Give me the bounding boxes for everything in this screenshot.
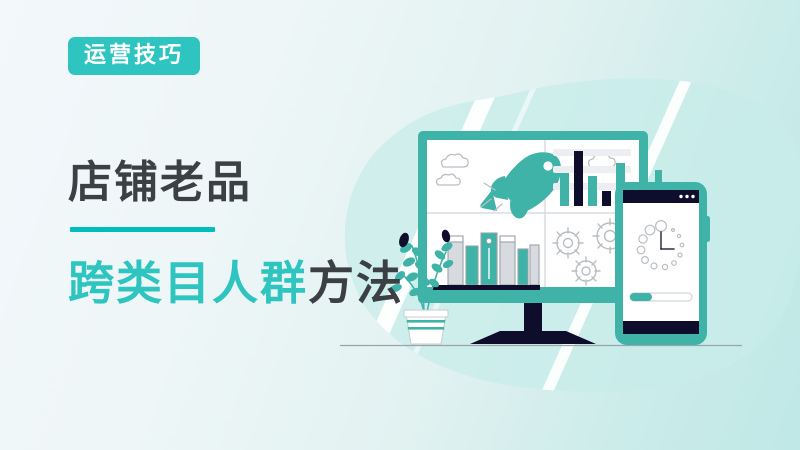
chart-bar <box>560 173 569 206</box>
bookshelf <box>432 285 540 290</box>
book-item <box>530 245 539 285</box>
phone-side-button <box>705 216 710 242</box>
category-badge[interactable]: 运营技巧 <box>68 37 200 75</box>
book-item <box>500 240 515 285</box>
title-divider <box>70 227 215 232</box>
book-item <box>518 249 528 285</box>
desktop-monitor <box>418 131 648 344</box>
phone-bottom-bar <box>623 321 699 334</box>
progress-fill <box>630 293 652 301</box>
monitor-stand-base <box>470 331 596 344</box>
smartphone <box>615 170 710 345</box>
subtitle: 跨类目人群方法 <box>68 260 404 306</box>
book-item <box>448 236 463 242</box>
page-title: 店铺老品 <box>68 161 252 205</box>
chart-bar <box>602 191 611 206</box>
book-item <box>500 236 515 242</box>
book-dot-icon <box>486 238 491 243</box>
subtitle-plain: 方法 <box>308 257 404 309</box>
rocket-window-icon <box>543 161 552 170</box>
phone-antenna <box>655 170 662 183</box>
progress-bar <box>630 293 692 301</box>
poster-canvas: 运营技巧 店铺老品 跨类目人群方法 <box>0 0 800 450</box>
chart-bar <box>588 176 597 206</box>
chart-bar <box>574 151 583 206</box>
plant-pot-rim <box>404 310 448 317</box>
phone-titlebar-dots <box>679 195 694 198</box>
subtitle-highlight: 跨类目人群 <box>68 257 308 309</box>
book-item <box>466 246 478 285</box>
